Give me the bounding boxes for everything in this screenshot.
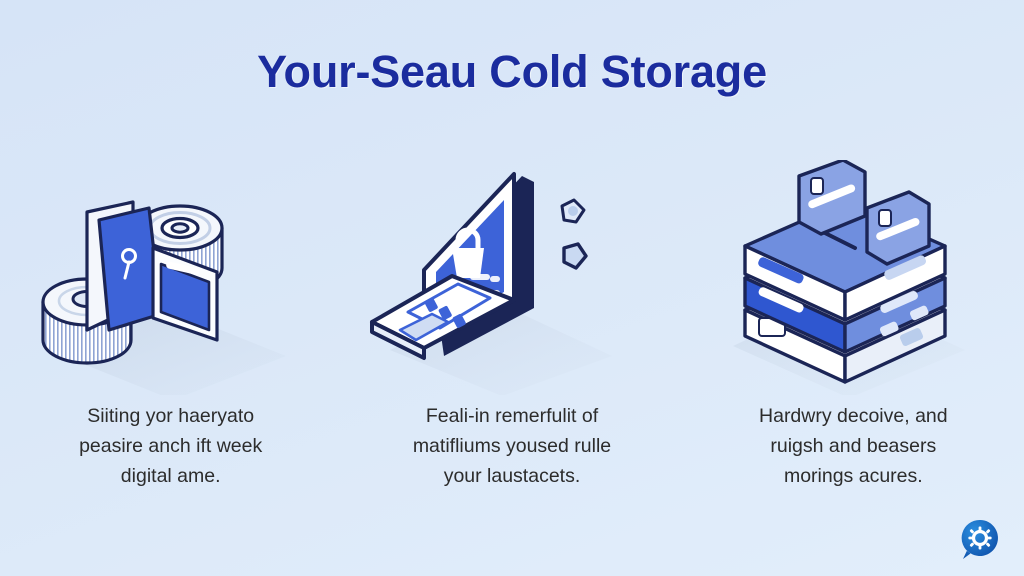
server-stack-illustration [703,160,1003,395]
caption-1-line-3: digital ame. [36,461,306,491]
caption-3-line-3: morings acures. [718,461,988,491]
column-1: Siiting yor haeryato peasire anch ift we… [0,160,341,520]
tape-reels-illustration [21,160,321,395]
caption-2-line-3: your laustacets. [377,461,647,491]
infographic-poster: Your-Seau Cold Storage [0,0,1024,576]
floating-badge-top [562,200,584,222]
caption-1: Siiting yor haeryato peasire anch ift we… [36,401,306,491]
column-2: Feali-in remerfulit of matifliums yoused… [341,160,682,520]
caption-1-line-2: peasire anch ift week [36,431,306,461]
caption-2: Feali-in remerfulit of matifliums yoused… [377,401,647,491]
columns-container: Siiting yor haeryato peasire anch ift we… [0,160,1024,520]
caption-2-line-1: Feali-in remerfulit of [377,401,647,431]
gear-speech-bubble-logo[interactable] [958,518,1002,562]
page-title: Your-Seau Cold Storage [0,46,1024,98]
caption-2-line-2: matifliums yoused rulle [377,431,647,461]
caption-3: Hardwry decoive, and ruigsh and beasers … [718,401,988,491]
laptop-lock-illustration [362,160,662,395]
floating-badge-bottom [564,244,586,268]
column-3: Hardwry decoive, and ruigsh and beasers … [683,160,1024,520]
caption-1-line-1: Siiting yor haeryato [36,401,306,431]
caption-3-line-2: ruigsh and beasers [718,431,988,461]
caption-3-line-1: Hardwry decoive, and [718,401,988,431]
